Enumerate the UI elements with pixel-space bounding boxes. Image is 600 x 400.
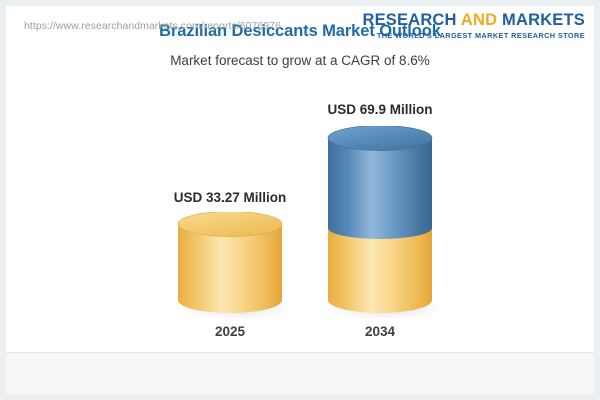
logo-word-markets: MARKETS [502,11,585,29]
footer-bar [6,353,594,394]
brand-logo[interactable]: RESEARCH AND MARKETS THE WORLD'S LARGEST… [362,12,585,40]
logo-word-and: AND [461,11,497,29]
logo-tagline: THE WORLD'S LARGEST MARKET RESEARCH STOR… [362,31,585,40]
chart-plot-area: USD 33.27 Million [6,6,594,354]
chart-card: Brazilian Desiccants Market Outlook Mark… [6,6,594,394]
category-label-2034: 2034 [280,324,480,339]
bar-2034[interactable] [326,126,434,318]
logo-word-research: RESEARCH [362,11,456,29]
footer-divider [6,352,594,353]
logo-wordmark: RESEARCH AND MARKETS [362,12,585,29]
bar-group-2034: USD 69.9 Million [6,6,594,354]
source-url-link[interactable]: https://www.researchandmarkets.com/repor… [24,20,281,32]
value-label-2034: USD 69.9 Million [280,102,480,117]
